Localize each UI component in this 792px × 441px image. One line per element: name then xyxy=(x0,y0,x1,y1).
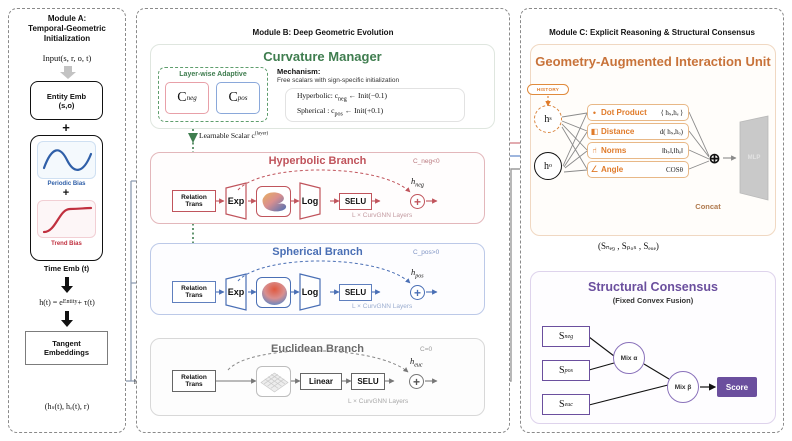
s-pos-sub: pos xyxy=(565,368,573,374)
s-neg-sub: neg xyxy=(564,334,573,340)
mix-beta-node: Mix β xyxy=(667,371,699,403)
diagram-root: Module A: Temporal-Geometric Initializat… xyxy=(0,0,792,441)
s-euc-sub: euc xyxy=(565,402,573,408)
consensus-input-s-neg: Sneg xyxy=(542,326,590,347)
mix-alpha-node: Mix α xyxy=(613,342,645,374)
consensus-input-s-pos: Spos xyxy=(542,360,590,381)
consensus-input-s-euc: Seuc xyxy=(542,394,590,415)
score-output-box: Score xyxy=(717,377,757,397)
